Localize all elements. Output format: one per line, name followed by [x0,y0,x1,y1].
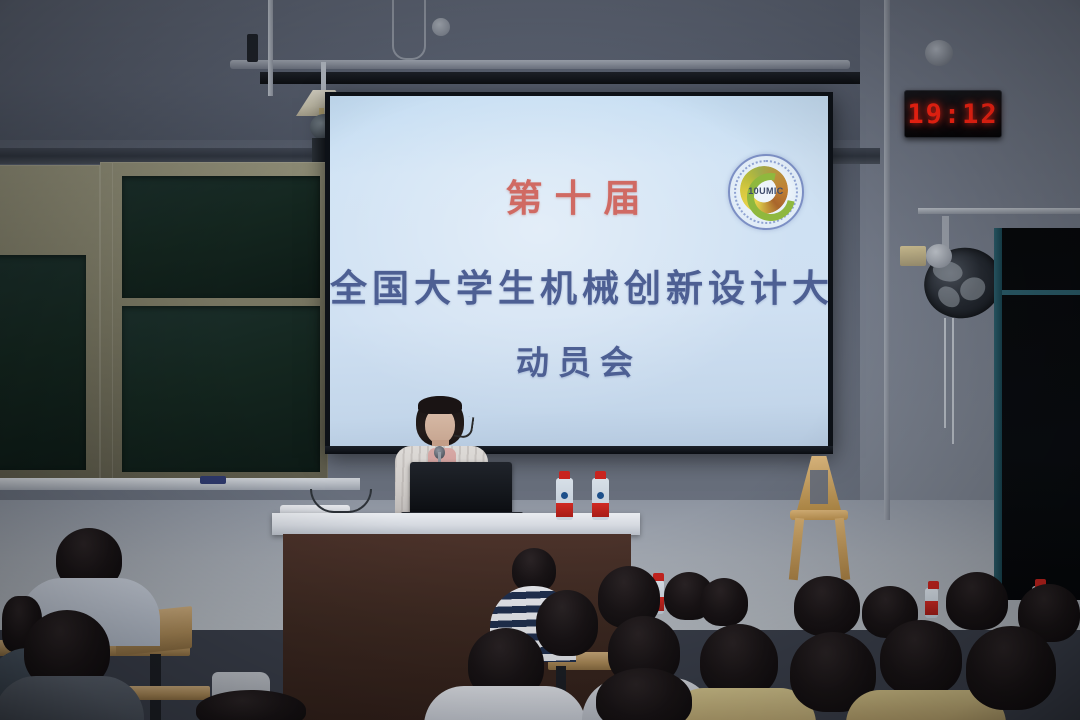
chalk-duster-icon [200,476,226,484]
bottle-cap [559,471,570,479]
vertical-cable [268,0,273,96]
chalk-tray [0,478,360,490]
slide-line-3: 动员会 [330,336,828,384]
blackboard-panel-left [0,255,86,470]
door-transom-bar [1002,290,1080,295]
seated-audience-member [536,590,598,656]
wall-electrical-plate [900,246,926,266]
water-bottle [556,478,573,520]
fan-pull-cord[interactable] [952,318,954,444]
seated-audience-member [946,572,1008,630]
competition-logo: 10UMIC [728,154,804,230]
lecture-hall-photo: 第十届 全国大学生机械创新设计大赛 动员会 10UMIC 19:12 [0,0,1080,720]
fan-pull-cord[interactable] [944,318,946,428]
lamp-rod [321,62,326,92]
classroom-doorway [1000,228,1080,600]
screen-roller-tube [260,72,860,84]
wall-speaker-icon [925,40,953,66]
bottle-logo-icon [597,492,604,499]
wall-conduit-horizontal [918,208,1080,214]
logo-text: 10UMIC [730,186,802,196]
seated-audience-member [880,620,962,696]
stool-notch [810,470,828,504]
wall-switch[interactable] [247,34,258,62]
slide-line-2: 全国大学生机械创新设计大赛 [330,258,828,312]
bottle-logo-icon [561,492,568,499]
projection-screen: 第十届 全国大学生机械创新设计大赛 动员会 10UMIC [330,96,828,446]
bottle-label [556,503,573,517]
seated-audience-member [794,576,860,636]
fan-motor [926,244,952,268]
blackboard-panel-lower [122,306,320,472]
audience-shoulders [0,676,144,720]
seated-audience-member [596,668,692,720]
bottle-label [592,503,609,517]
bottle-cap [595,471,606,479]
audience-shoulders [424,686,586,720]
fan-blade [956,273,989,305]
bottle-cap [928,581,939,589]
hanging-cable [392,0,426,60]
bottle-label [925,601,938,615]
seated-audience-member [966,626,1056,710]
presenter-laptop[interactable] [410,462,512,514]
wall-conduit-vertical [884,0,890,520]
water-bottle [925,588,938,618]
wall-digital-clock: 19:12 [904,90,1002,138]
clock-time: 19:12 [907,99,998,130]
water-bottle [592,478,609,520]
blackboard-panel-upper [122,176,320,298]
podium-desktop [272,513,640,535]
door-frame [994,228,1002,600]
presenter-fringe [418,396,462,414]
seated-audience-member [700,578,748,626]
seated-audience-member [700,624,778,698]
ceiling-power-socket-icon [432,18,450,36]
